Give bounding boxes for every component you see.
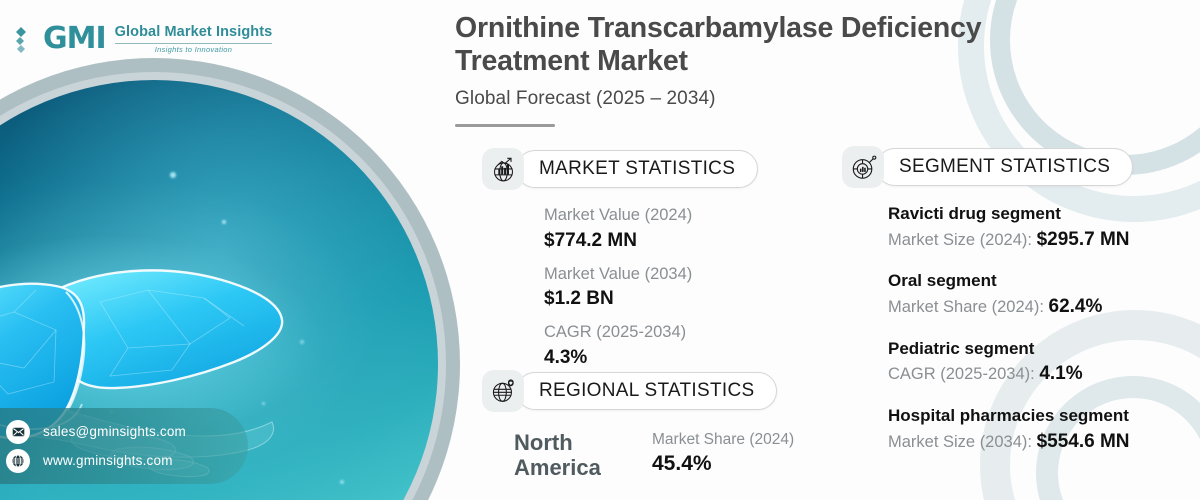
regional-statistics-content: North America Market Share (2024) 45.4%	[482, 430, 794, 481]
infographic-root: sales@gminsights.com www.gminsights.com	[0, 0, 1200, 500]
segment-metric-label: CAGR (2025-2034):	[888, 365, 1039, 383]
region-metric-label: Market Share (2024)	[652, 430, 794, 450]
title-divider	[455, 124, 555, 127]
globe-pin-icon	[482, 370, 524, 412]
stat-label: CAGR (2025-2034)	[544, 321, 758, 345]
globe-icon	[6, 449, 30, 473]
contact-email-text: sales@gminsights.com	[43, 424, 186, 439]
logo-divider	[115, 43, 273, 44]
segment-metric-label: Market Share (2024):	[888, 298, 1049, 316]
gmi-logo[interactable]: GMI Global Market Insights Insights to I…	[14, 24, 272, 54]
segment-title: Oral segment	[888, 269, 1133, 293]
regional-statistics-heading: REGIONAL STATISTICS	[516, 372, 777, 410]
page-subtitle: Global Forecast (2025 – 2034)	[455, 88, 1095, 110]
stat-label: Market Value (2024)	[544, 204, 758, 228]
segment-metric-value: $554.6 MN	[1037, 431, 1130, 452]
segment-statistics-section: SEGMENT STATISTICS Ravicti drug segment …	[842, 146, 1133, 471]
regional-statistics-section: REGIONAL STATISTICS North America Market…	[482, 370, 794, 481]
stat-value: $1.2 BN	[544, 286, 758, 312]
globe-bar-chart-icon	[482, 148, 524, 190]
region-name: North America	[514, 430, 626, 481]
segment-metric-value: 62.4%	[1049, 296, 1103, 317]
segment-statistics-list: Ravicti drug segment Market Size (2024):…	[842, 202, 1133, 455]
segment-item: Ravicti drug segment Market Size (2024):…	[888, 202, 1133, 253]
contact-website-text: www.gminsights.com	[43, 453, 173, 468]
gmi-logo-mark: GMI	[43, 24, 106, 54]
contact-website-row[interactable]: www.gminsights.com	[6, 449, 248, 473]
segment-metric: Market Size (2034): $554.6 MN	[888, 428, 1133, 456]
segment-item: Pediatric segment CAGR (2025-2034): 4.1%	[888, 337, 1133, 388]
segment-title: Pediatric segment	[888, 337, 1133, 361]
segment-metric: CAGR (2025-2034): 4.1%	[888, 360, 1133, 388]
segment-metric-value: 4.1%	[1039, 363, 1082, 384]
region-metric-value: 45.4%	[652, 452, 794, 476]
contact-panel: sales@gminsights.com www.gminsights.com	[0, 408, 248, 484]
segment-statistics-heading: SEGMENT STATISTICS	[876, 148, 1133, 186]
stat-label: Market Value (2034)	[544, 263, 758, 287]
gmi-logo-tagline: Insights to Innovation	[155, 45, 232, 54]
donut-chart-target-icon	[842, 146, 884, 188]
page-title: Ornithine Transcarbamylase Deficiency Tr…	[455, 12, 1095, 78]
title-block: Ornithine Transcarbamylase Deficiency Tr…	[455, 12, 1095, 127]
segment-metric-value: $295.7 MN	[1037, 229, 1130, 250]
gmi-diamond-icon	[14, 24, 36, 54]
segment-metric: Market Share (2024): 62.4%	[888, 293, 1133, 321]
market-statistics-section: MARKET STATISTICS Market Value (2024) $7…	[482, 148, 758, 380]
segment-item: Hospital pharmacies segment Market Size …	[888, 404, 1133, 455]
contact-email-row[interactable]: sales@gminsights.com	[6, 420, 248, 444]
segment-title: Hospital pharmacies segment	[888, 404, 1133, 428]
segment-metric-label: Market Size (2034):	[888, 433, 1037, 451]
stat-value: $774.2 MN	[544, 228, 758, 254]
market-statistics-list: Market Value (2024) $774.2 MN Market Val…	[482, 204, 758, 371]
segment-metric: Market Size (2024): $295.7 MN	[888, 226, 1133, 254]
stat-value: 4.3%	[544, 345, 758, 371]
gmi-logo-name: Global Market Insights	[115, 24, 273, 41]
segment-title: Ravicti drug segment	[888, 202, 1133, 226]
market-statistics-heading: MARKET STATISTICS	[516, 150, 758, 188]
segment-metric-label: Market Size (2024):	[888, 231, 1037, 249]
envelope-icon	[6, 420, 30, 444]
segment-item: Oral segment Market Share (2024): 62.4%	[888, 269, 1133, 320]
